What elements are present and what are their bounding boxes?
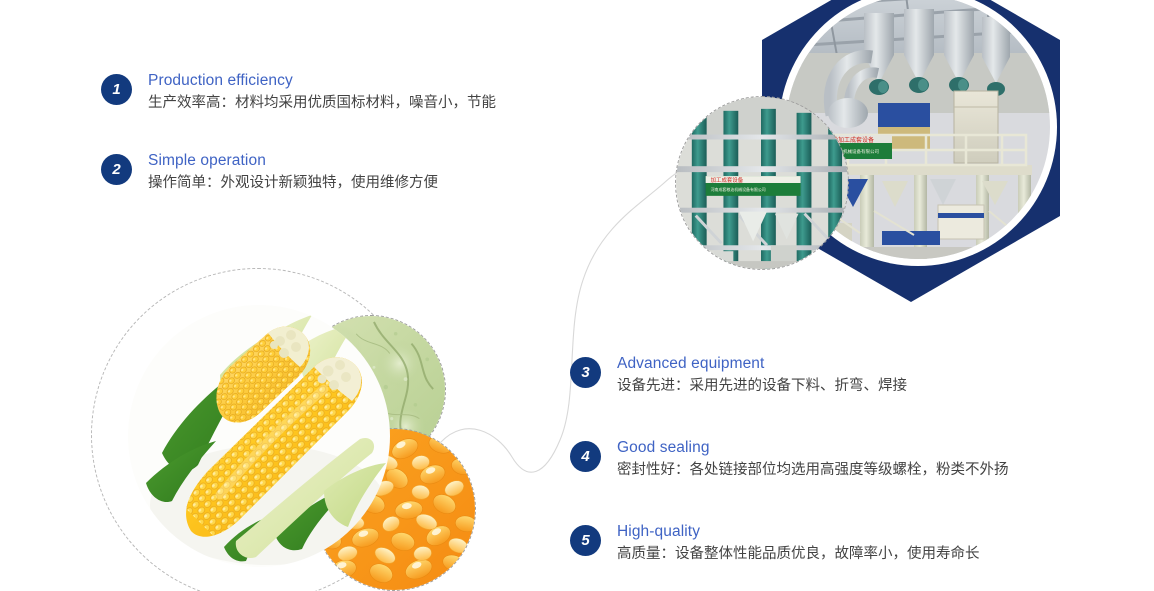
feature-title-5: High-quality: [617, 522, 1130, 542]
feature-desc-3: 设备先进：采用先进的设备下料、折弯、焊接: [617, 375, 1130, 397]
feature-badge-4: 4: [570, 441, 601, 472]
feature-list-right: 3 Advanced equipment 设备先进：采用先进的设备下料、折弯、焊…: [570, 345, 1130, 591]
feature-text-4: Good sealing 密封性好：各处链接部位均选用高强度等级螺栓，粉类不外扬: [617, 429, 1130, 481]
feature-title-4: Good sealing: [617, 438, 1130, 458]
fresh-corn-cobs-photo: [128, 305, 390, 567]
green-milling-machinery-photo: 加工成套设备 河南成套粮油机械设备有限公司: [675, 96, 849, 270]
feature-item-5[interactable]: 5 High-quality 高质量：设备整体性能品质优良，故障率小，使用寿命长: [570, 513, 1130, 565]
feature-title-1: Production efficiency: [148, 71, 621, 91]
feature-text-2: Simple operation 操作简单：外观设计新颖独特，使用维修方便: [148, 142, 621, 194]
feature-desc-5: 高质量：设备整体性能品质优良，故障率小，使用寿命长: [617, 543, 1130, 565]
feature-desc-2: 操作简单：外观设计新颖独特，使用维修方便: [148, 172, 621, 194]
feature-badge-5: 5: [570, 525, 601, 556]
feature-badge-1: 1: [101, 74, 132, 105]
feature-badge-3: 3: [570, 357, 601, 388]
feature-item-4[interactable]: 4 Good sealing 密封性好：各处链接部位均选用高强度等级螺栓，粉类不…: [570, 429, 1130, 481]
feature-text-5: High-quality 高质量：设备整体性能品质优良，故障率小，使用寿命长: [617, 513, 1130, 565]
feature-text-3: Advanced equipment 设备先进：采用先进的设备下料、折弯、焊接: [617, 345, 1130, 397]
feature-title-2: Simple operation: [148, 151, 621, 171]
feature-badge-2: 2: [101, 154, 132, 185]
feature-desc-1: 生产效率高：材料均采用优质国标材料，噪音小，节能: [148, 92, 621, 114]
feature-item-2[interactable]: 2 Simple operation 操作简单：外观设计新颖独特，使用维修方便: [101, 142, 621, 194]
feature-title-3: Advanced equipment: [617, 354, 1130, 374]
feature-desc-4: 密封性好：各处链接部位均选用高强度等级螺栓，粉类不外扬: [617, 459, 1130, 481]
feature-text-1: Production efficiency 生产效率高：材料均采用优质国标材料，…: [148, 62, 621, 114]
svg-text:加工成套设备: 加工成套设备: [711, 176, 744, 184]
feature-item-3[interactable]: 3 Advanced equipment 设备先进：采用先进的设备下料、折弯、焊…: [570, 345, 1130, 397]
infographic-canvas: 玉米制粉加工成套设备 河南成套粮油机械设备有限公司: [0, 0, 1154, 591]
feature-list-left: 1 Production efficiency 生产效率高：材料均采用优质国标材…: [101, 62, 621, 222]
feature-item-1[interactable]: 1 Production efficiency 生产效率高：材料均采用优质国标材…: [101, 62, 621, 114]
svg-text:河南成套粮油机械设备有限公司: 河南成套粮油机械设备有限公司: [711, 187, 766, 192]
